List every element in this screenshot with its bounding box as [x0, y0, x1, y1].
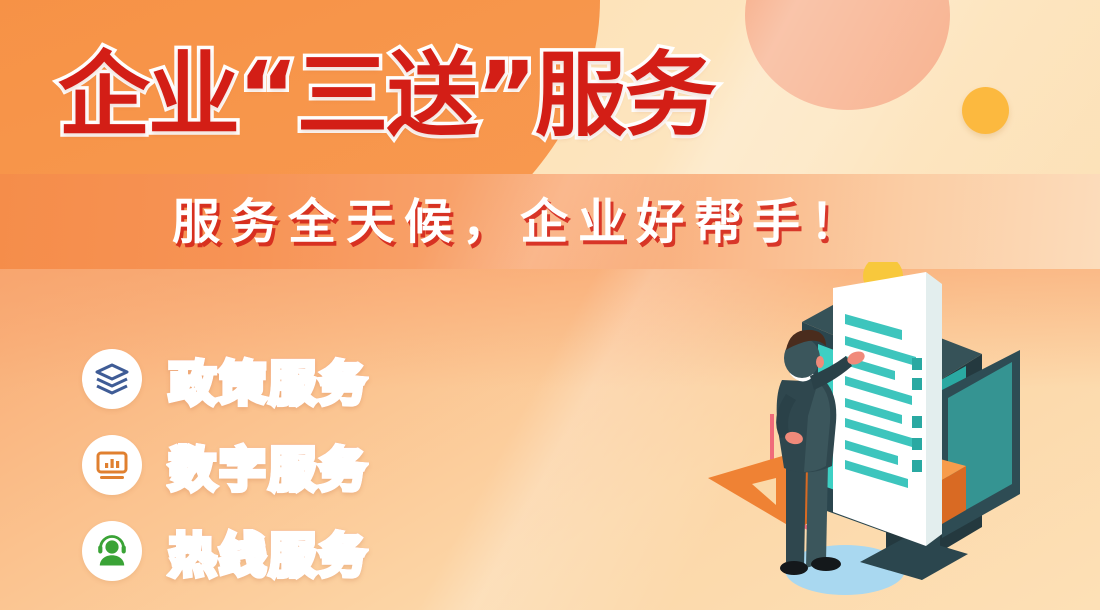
subtitle-text: 服务全天候，企业好帮手！	[0, 182, 1040, 252]
background-circle-gold	[962, 87, 1009, 134]
feature-label-digital: 数字服务	[169, 431, 369, 500]
feature-label-hotline: 热线服务	[169, 517, 369, 586]
page-title: 企业“三送”服务	[58, 48, 715, 145]
background-blob-salmon	[745, 0, 950, 110]
layers-icon	[82, 349, 142, 409]
feature-item-digital[interactable]: 数字服务	[82, 422, 369, 508]
feature-item-policy[interactable]: 政策服务	[82, 336, 369, 422]
feature-item-hotline[interactable]: 热线服务	[82, 508, 369, 594]
isometric-illustration	[690, 262, 1100, 610]
promotional-banner: 企业“三送”服务 服务全天候，企业好帮手！ 政策服务	[0, 0, 1100, 610]
feature-list: 政策服务 数字服务	[82, 336, 369, 594]
chart-monitor-icon	[82, 435, 142, 495]
headset-agent-icon	[82, 521, 142, 581]
feature-label-policy: 政策服务	[169, 345, 369, 414]
document	[833, 272, 942, 546]
